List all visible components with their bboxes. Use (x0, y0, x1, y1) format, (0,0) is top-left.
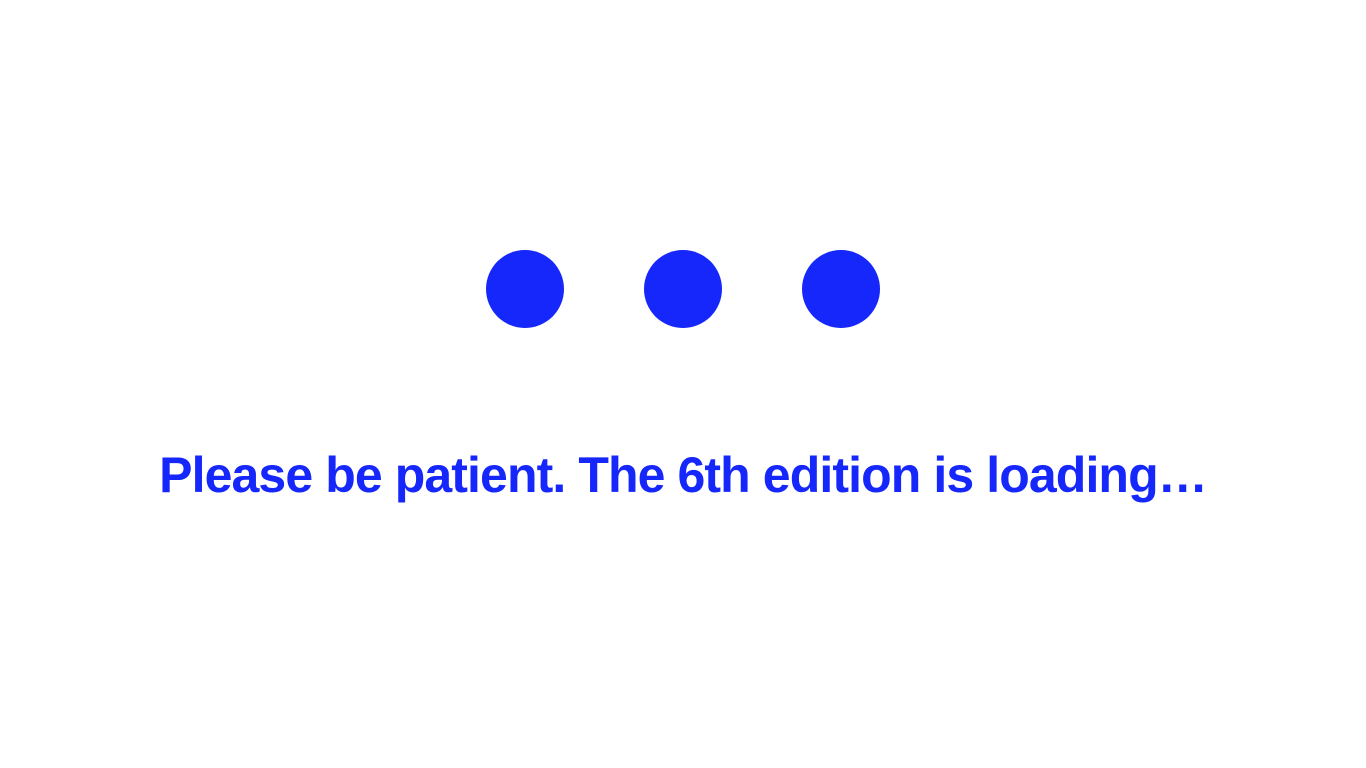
loading-status-message: Please be patient. The 6th edition is lo… (0, 443, 1366, 507)
three-dot-loading-spinner (0, 250, 1366, 328)
spinner-dot-2 (644, 250, 722, 328)
loading-screen: Please be patient. The 6th edition is lo… (0, 0, 1366, 768)
spinner-dot-1 (486, 250, 564, 328)
spinner-dot-3 (802, 250, 880, 328)
